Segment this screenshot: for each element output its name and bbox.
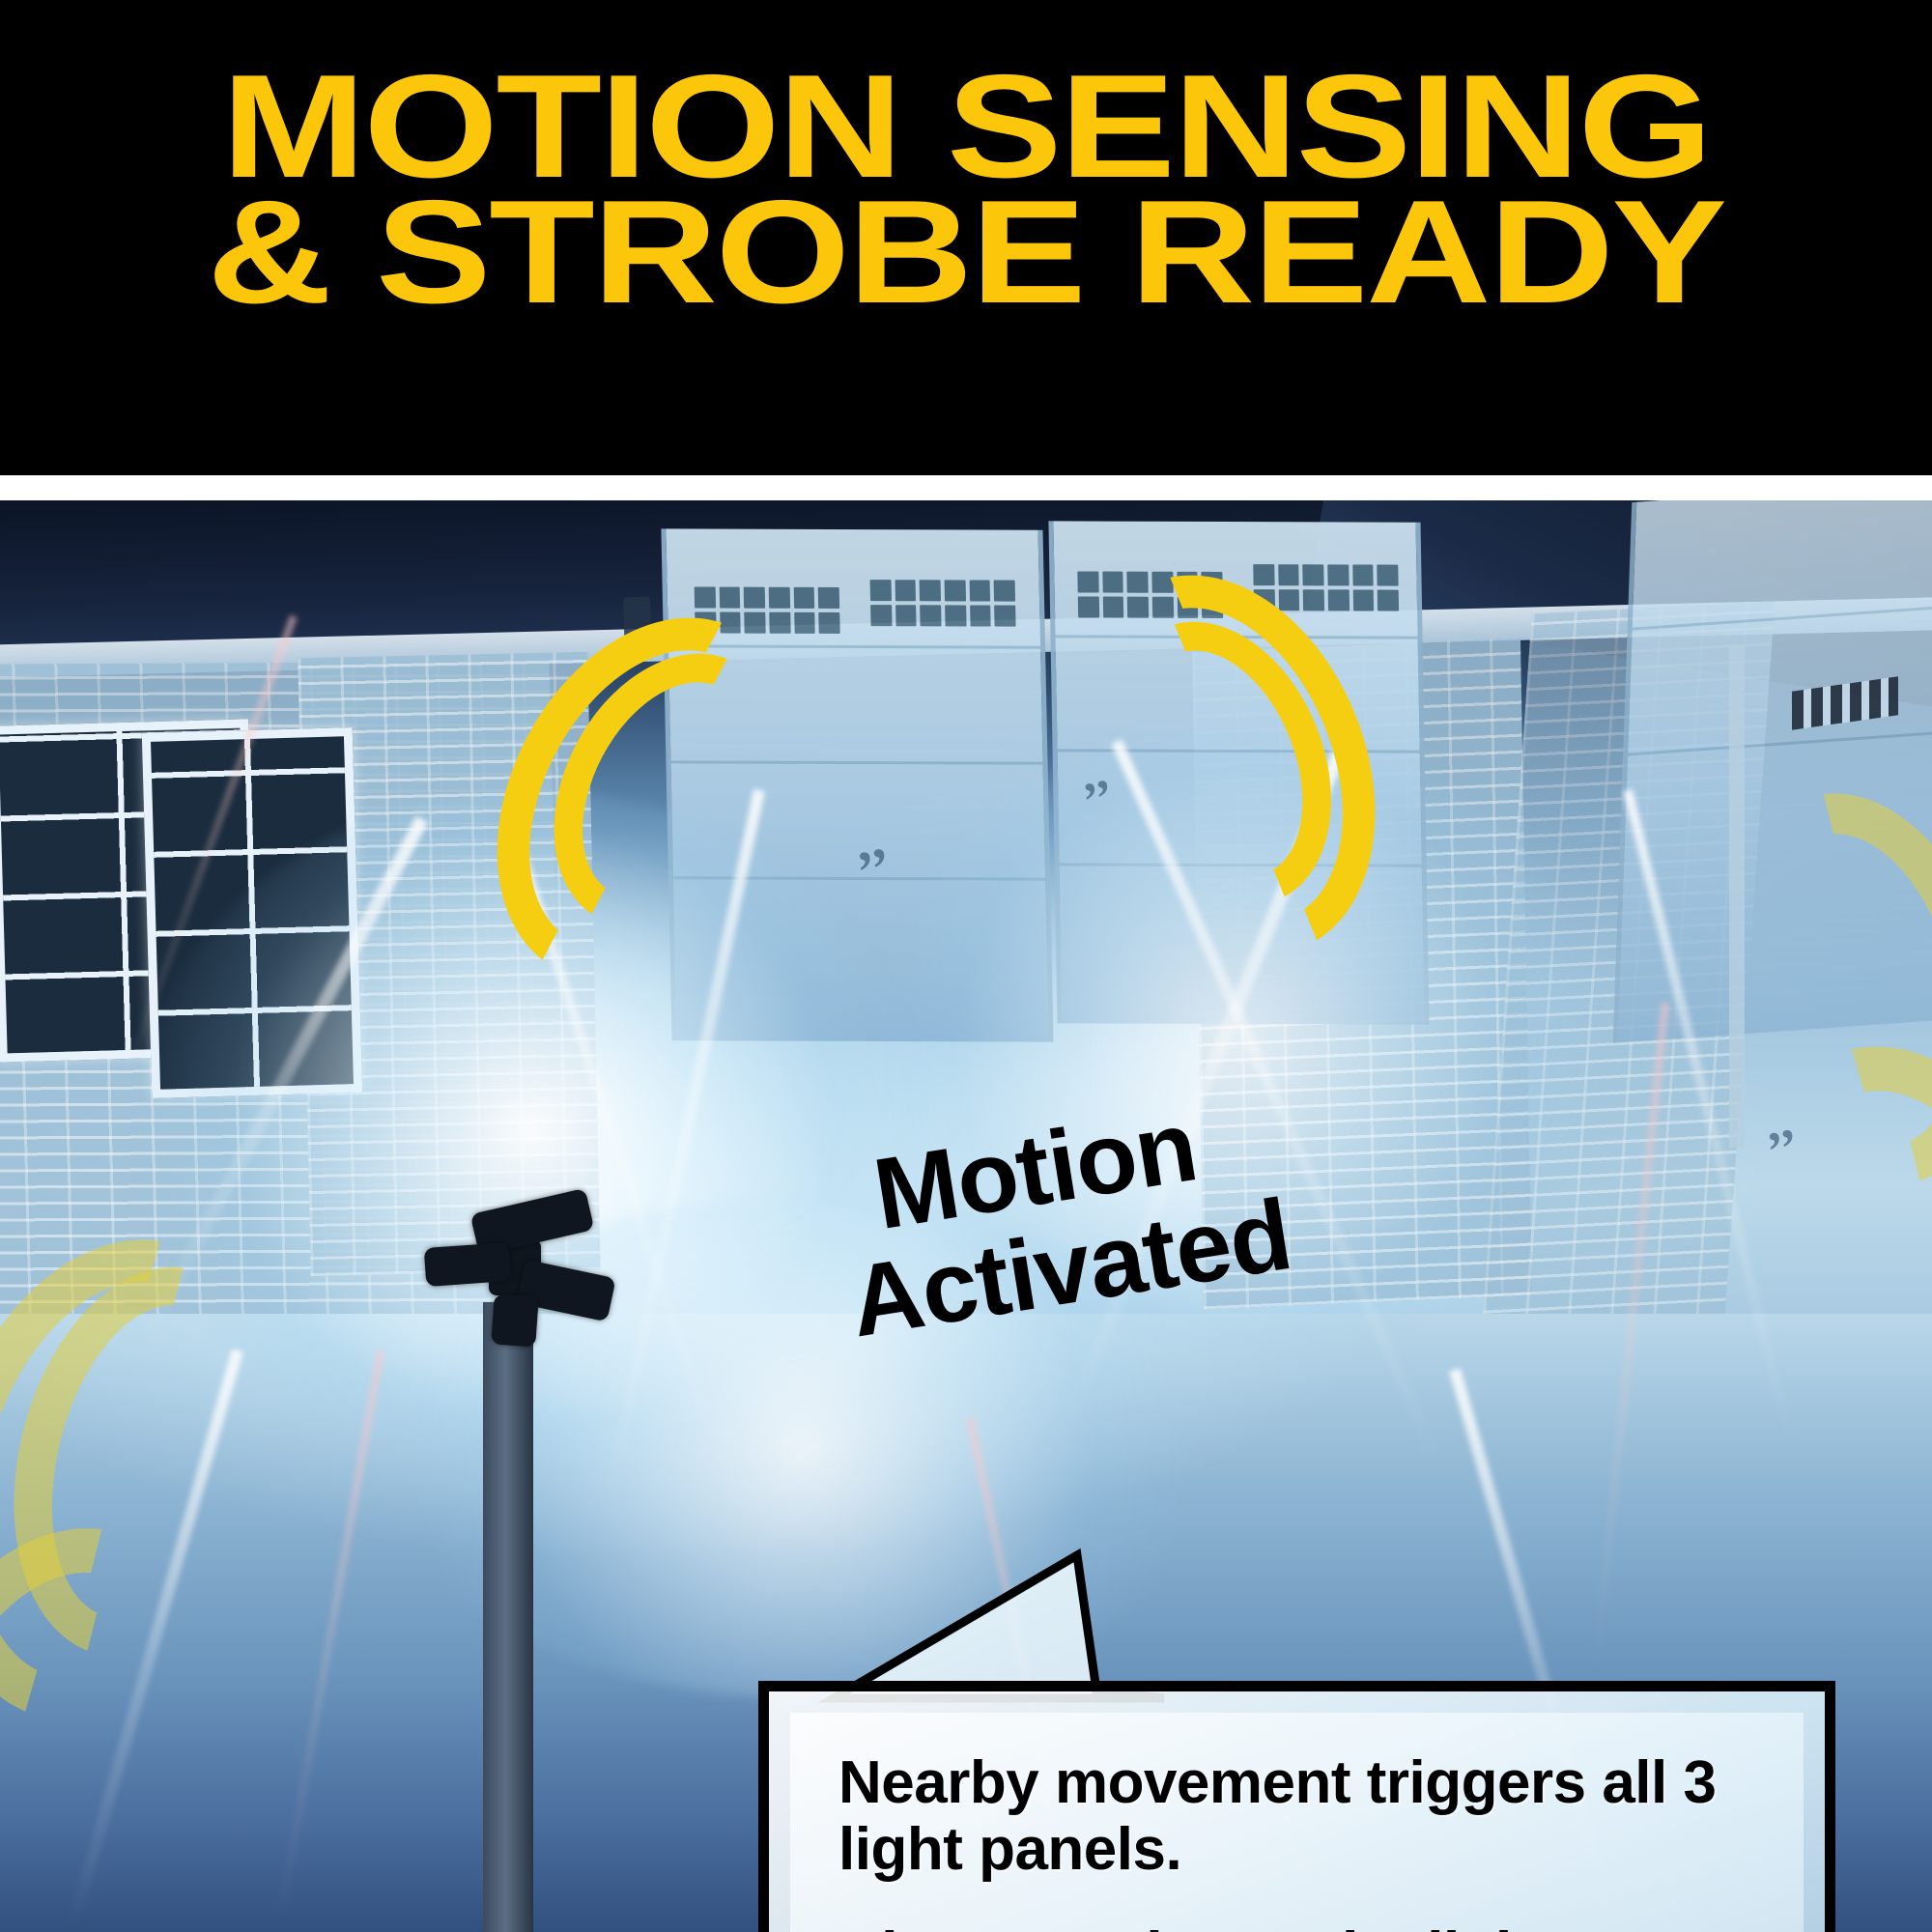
motion-light-fixture [456, 1210, 572, 1932]
fixture-panel-left [424, 1242, 512, 1287]
header-divider [0, 475, 1932, 500]
callout-paragraph-1: Nearby movement triggers all 3 light pan… [838, 1749, 1778, 1884]
callout-border: Nearby movement triggers all 3 light pan… [758, 1681, 1835, 1932]
scene-photo: ’’ ’’ ’’ Motion Activated [0, 500, 1932, 1932]
headline-line-2: & STROBE READY [0, 185, 1932, 321]
callout-paragraph-2: Alert security strobe light function tha… [838, 1920, 1778, 1932]
callout-tail-icon [758, 1526, 1835, 1700]
fixture-post [483, 1302, 533, 1932]
fixture-panel-front [491, 1293, 539, 1347]
callout-text: Nearby movement triggers all 3 light pan… [838, 1749, 1778, 1932]
feature-callout-bubble: Nearby movement triggers all 3 light pan… [758, 1681, 1835, 1932]
downspout [1729, 644, 1745, 1148]
header-banner: MOTION SENSING & STROBE READY [0, 0, 1932, 475]
product-feature-poster: MOTION SENSING & STROBE READY [0, 0, 1932, 1932]
motion-tick-icon: ’’ [1762, 1116, 1804, 1180]
